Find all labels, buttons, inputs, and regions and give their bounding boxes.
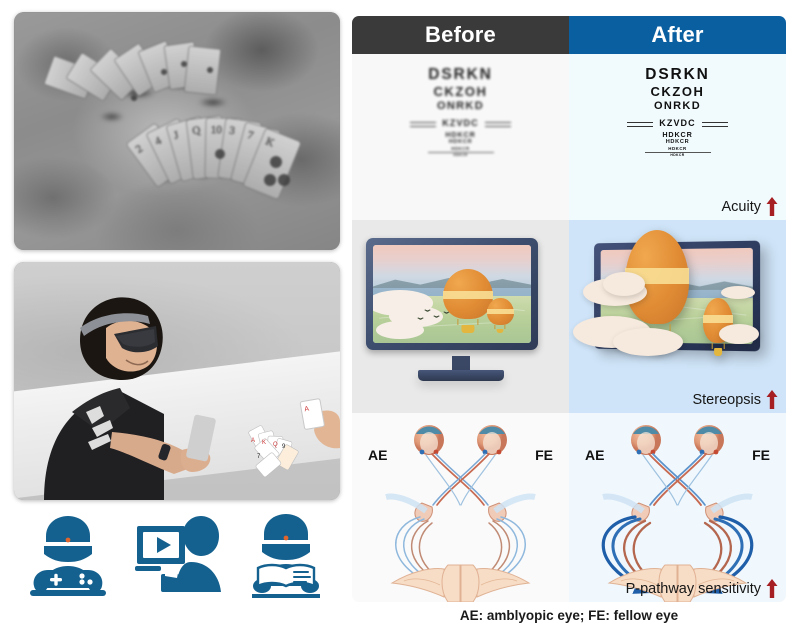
row-stereopsis: Stereopsis	[352, 220, 786, 413]
visual-pathway-diagram-after: AE FE	[569, 413, 786, 602]
pathway-svg	[569, 413, 786, 602]
eye-chart-line: KZVDC	[442, 118, 478, 129]
before-after-grid: Before After DSRKN CKZOH ONRKD KZVDC HDK…	[352, 16, 786, 602]
eye-chart-line: HDKCR	[569, 131, 786, 139]
eye-fe	[694, 425, 724, 455]
metric-label: Acuity	[722, 199, 762, 215]
participant-photo: AKQ 97 A	[14, 262, 340, 500]
eye-chart-line: KZVDC	[659, 118, 695, 129]
header-after: After	[569, 16, 786, 54]
bird	[433, 316, 440, 320]
figure-caption: AE: amblyopic eye; FE: fellow eye	[352, 608, 786, 623]
metric-label: P-pathway sensitivity	[626, 581, 761, 597]
metric-acuity: Acuity	[722, 197, 779, 216]
balloon-stripe	[703, 315, 733, 323]
lateral-geniculate-nucleus	[632, 503, 723, 521]
balloon-basket	[461, 325, 474, 333]
eye-chart-line: ONRKD	[352, 100, 569, 113]
bird	[417, 318, 424, 322]
television-base	[418, 370, 504, 381]
svg-text:Q: Q	[192, 124, 201, 137]
eye-ae	[414, 425, 444, 455]
reading-with-glasses-icon	[240, 510, 332, 598]
svg-text:K: K	[262, 440, 266, 446]
eye-chart-line: CKZOH	[569, 84, 786, 99]
metric-stereopsis: Stereopsis	[692, 390, 778, 409]
eye-chart-line: HDKCR	[569, 146, 786, 151]
balloon-landscape-scene	[373, 245, 531, 343]
eye-chart-line: CKZOH	[352, 84, 569, 99]
lateral-geniculate-nucleus	[415, 503, 506, 521]
eye-chart-line: HDKCR	[569, 153, 786, 157]
balloon-stripe	[443, 291, 494, 299]
activity-icon-row	[14, 508, 340, 600]
playing-cards-illustration: 2 4 J Q 10 3	[14, 12, 340, 250]
bird	[424, 310, 431, 314]
hot-air-balloon-small	[487, 298, 514, 333]
row-p-pathway: AE FE	[352, 413, 786, 602]
cloud-popout	[613, 328, 683, 356]
cell-pathway-after: AE FE	[569, 413, 786, 602]
header-before: Before	[352, 16, 569, 54]
eye-chart-line: DSRKN	[569, 66, 786, 84]
svg-text:A: A	[251, 438, 255, 444]
cloud-popout	[721, 286, 755, 299]
visual-pathway-diagram-before: AE FE	[352, 413, 569, 602]
grid-body: DSRKN CKZOH ONRKD KZVDC HDKCR HDKCR HDKC…	[352, 54, 786, 602]
balloon-basket	[497, 329, 504, 334]
row-acuity: DSRKN CKZOH ONRKD KZVDC HDKCR HDKCR HDKC…	[352, 54, 786, 220]
left-photo-column: 2 4 J Q 10 3	[0, 0, 350, 639]
eye-chart-after: DSRKN CKZOH ONRKD KZVDC HDKCR HDKCR HDKC…	[569, 66, 786, 157]
tv-3d-scene	[569, 220, 786, 413]
eye-chart-line: ONRKD	[569, 100, 786, 113]
tv-flat-scene	[352, 220, 569, 413]
cell-acuity-before: DSRKN CKZOH ONRKD KZVDC HDKCR HDKCR HDKC…	[352, 54, 569, 220]
up-arrow-icon	[766, 197, 778, 216]
television-frame	[366, 238, 538, 350]
gaming-with-glasses-icon	[22, 510, 114, 598]
television-screen	[373, 245, 531, 343]
grid-header-row: Before After	[352, 16, 786, 54]
eye-chart-before: DSRKN CKZOH ONRKD KZVDC HDKCR HDKCR HDKC…	[352, 66, 569, 157]
figure-root: 2 4 J Q 10 3	[0, 0, 800, 639]
cloud-popout	[603, 272, 645, 296]
hot-air-balloon-large	[443, 269, 494, 334]
svg-text:10: 10	[211, 124, 223, 136]
eye-chart-line: HDKCR	[352, 139, 569, 146]
cell-pathway-before: AE FE	[352, 413, 569, 602]
cell-stereopsis-before	[352, 220, 569, 413]
metric-label: Stereopsis	[692, 392, 761, 408]
simulated-amblyopic-vision-photo: 2 4 J Q 10 3	[14, 12, 340, 250]
screen-viewing-with-glasses-icon	[131, 510, 223, 598]
eye-chart-line: HDKCR	[569, 139, 786, 146]
eye-chart-line: HDKCR	[352, 153, 569, 157]
svg-text:Q: Q	[273, 442, 278, 448]
cloud	[376, 321, 423, 339]
up-arrow-icon	[766, 390, 778, 409]
balloon-stripe	[487, 309, 514, 314]
pathway-svg	[352, 413, 569, 602]
up-arrow-icon	[766, 579, 778, 598]
visual-cortex	[392, 565, 529, 602]
cell-stereopsis-after: Stereopsis	[569, 220, 786, 413]
eye-chart-line: HDKCR	[352, 146, 569, 151]
eye-fe	[477, 425, 507, 455]
eye-ae	[631, 425, 661, 455]
cloud-popout	[719, 324, 759, 344]
eye-chart-line: HDKCR	[352, 131, 569, 139]
eye-chart-line: DSRKN	[352, 66, 569, 84]
cell-acuity-after: DSRKN CKZOH ONRKD KZVDC HDKCR HDKCR HDKC…	[569, 54, 786, 220]
participant-illustration: AKQ 97 A	[14, 262, 340, 500]
metric-p-pathway: P-pathway sensitivity	[626, 579, 778, 598]
balloon-basket	[714, 348, 722, 356]
